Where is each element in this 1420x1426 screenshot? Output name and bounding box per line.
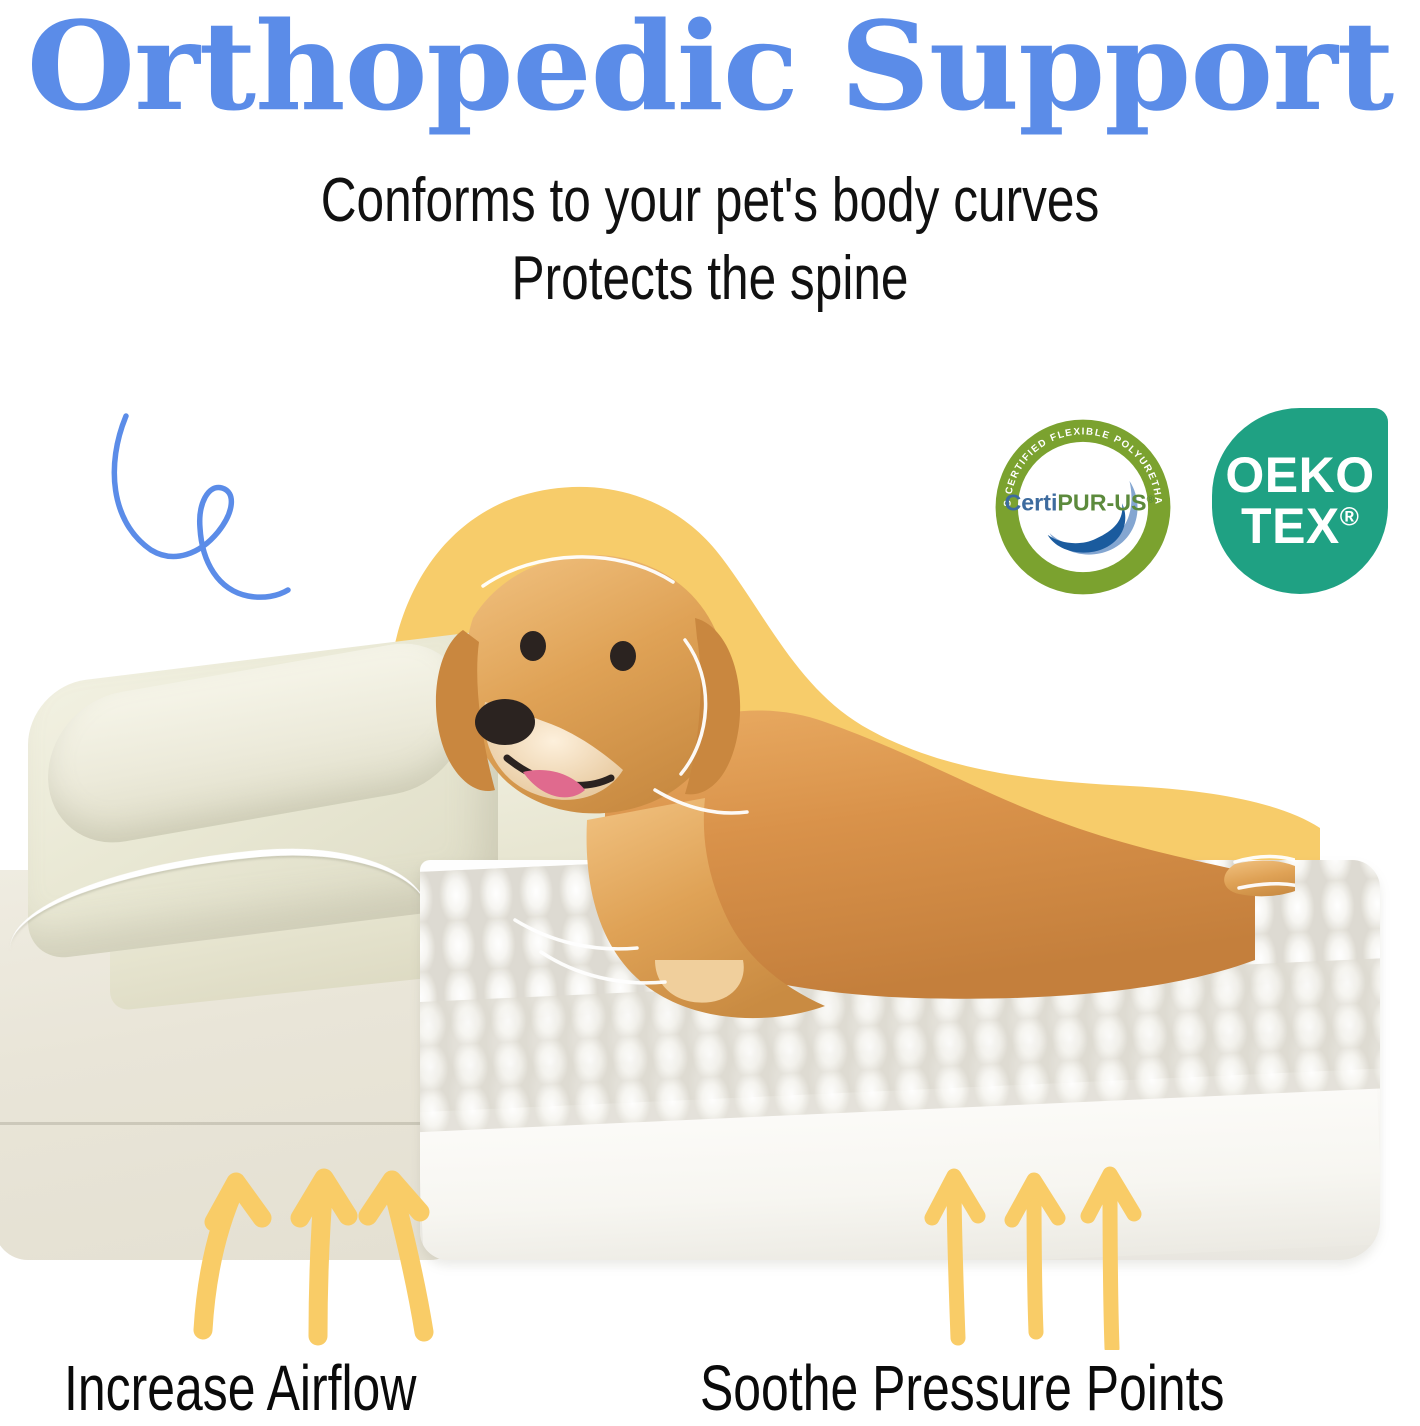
feature-captions: Increase Airflow Soothe Pressure Points [0,1356,1420,1426]
feature-arrows [0,1160,1420,1350]
infographic-stage: Orthopedic Support Conforms to your pet'… [0,0,1420,1426]
golden-retriever-illustration [355,490,1295,1050]
subtitle-line-1: Conforms to your pet's body curves [142,170,1278,232]
airflow-arrow-group [203,1178,424,1336]
page-title: Orthopedic Support [0,4,1420,128]
caption-soothe-pressure-points: Soothe Pressure Points [700,1356,1224,1420]
product-photo [0,430,1420,1260]
subtitle-line-2: Protects the spine [142,248,1278,310]
caption-increase-airflow: Increase Airflow [64,1356,416,1420]
pressure-arrow-group [932,1174,1134,1348]
